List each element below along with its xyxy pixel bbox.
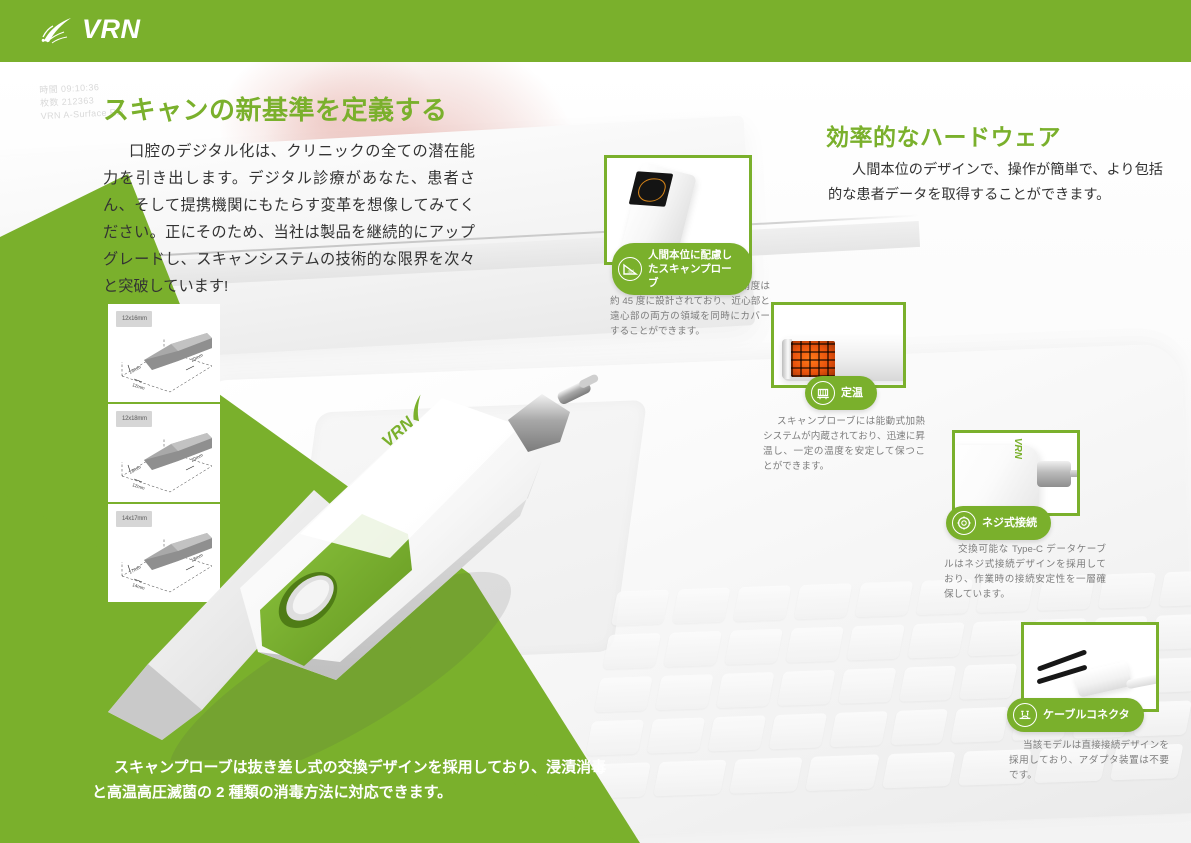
type-c-screw-connector-photo: VRN (955, 433, 1077, 513)
feature-description: 交換可能な Type-C データケーブルはネジ式接続デザインを採用しており、作業… (944, 542, 1106, 602)
cable-plug-icon (1013, 703, 1037, 727)
bottom-note: スキャンプローブは抜き差し式の交換デザインを採用しており、浸漬消毒と高温高圧滅菌… (92, 755, 612, 805)
angle-45-icon: 45° (618, 257, 642, 281)
poster-page: 時間 09:10:36枚数 212363VRN A-Surface RD VRN… (0, 0, 1191, 843)
feature-badge-label: ケーブルコネクタ (1043, 708, 1130, 722)
feature-badge[interactable]: ネジ式接続 (946, 506, 1051, 540)
left-heading: スキャンの新基準を定義する (103, 90, 448, 127)
feature-card-screw-connection[interactable]: VRN ネジ式接続 交換可能な Type-C データケーブルはネジ式接続デザイン… (952, 430, 1080, 516)
feature-card-ergonomic-probe[interactable]: 45° 人間本位に配慮したスキャンプローブ スキャンプローブのレンズ角度は約 4… (604, 155, 752, 265)
feature-badge-label: ネジ式接続 (982, 516, 1037, 530)
cable-connector-photo (1024, 625, 1156, 709)
heater-icon (811, 381, 835, 405)
right-heading: 効率的なハードウェア (826, 118, 1061, 152)
header-bar: VRN (0, 0, 1191, 62)
feature-card-constant-temperature[interactable]: 定温 スキャンプローブには能動式加熱システムが内蔵されており、迅速に昇温し、一定… (771, 302, 906, 388)
brand-name: VRN (82, 14, 141, 45)
feature-badge-label: 定温 (841, 386, 863, 400)
scanner-handpiece-image: VRN (90, 320, 610, 760)
svg-text:45°: 45° (628, 269, 635, 274)
screw-connector-icon (952, 511, 976, 535)
feature-badge[interactable]: 45° 人間本位に配慮したスキャンプローブ (612, 243, 752, 295)
feature-description: スキャンプローブには能動式加熱システムが内蔵されており、迅速に昇温し、一定の温度… (763, 414, 925, 474)
sprout-leaf-icon (40, 15, 74, 45)
feature-card-cable-connector[interactable]: ケーブルコネクタ 当該モデルは直接接続デザインを採用しており、アダプタ装置は不要… (1021, 622, 1159, 712)
feature-description: 当該モデルは直接接続デザインを採用しており、アダプタ装置は不要です。 (1009, 738, 1169, 783)
left-paragraph: 口腔のデジタル化は、クリニックの全ての潜在能力を引き出します。デジタル診療があな… (103, 138, 475, 300)
probe-heating-element-photo (774, 305, 903, 385)
brand-logo[interactable]: VRN (40, 14, 141, 45)
feature-image-frame: VRN (952, 430, 1080, 516)
feature-badge[interactable]: 定温 (805, 376, 877, 410)
right-paragraph: 人間本位のデザインで、操作が簡単で、より包括的な患者データを取得することができま… (828, 158, 1163, 208)
feature-badge-label: 人間本位に配慮したスキャンプローブ (648, 248, 738, 290)
feature-badge[interactable]: ケーブルコネクタ (1007, 698, 1144, 732)
